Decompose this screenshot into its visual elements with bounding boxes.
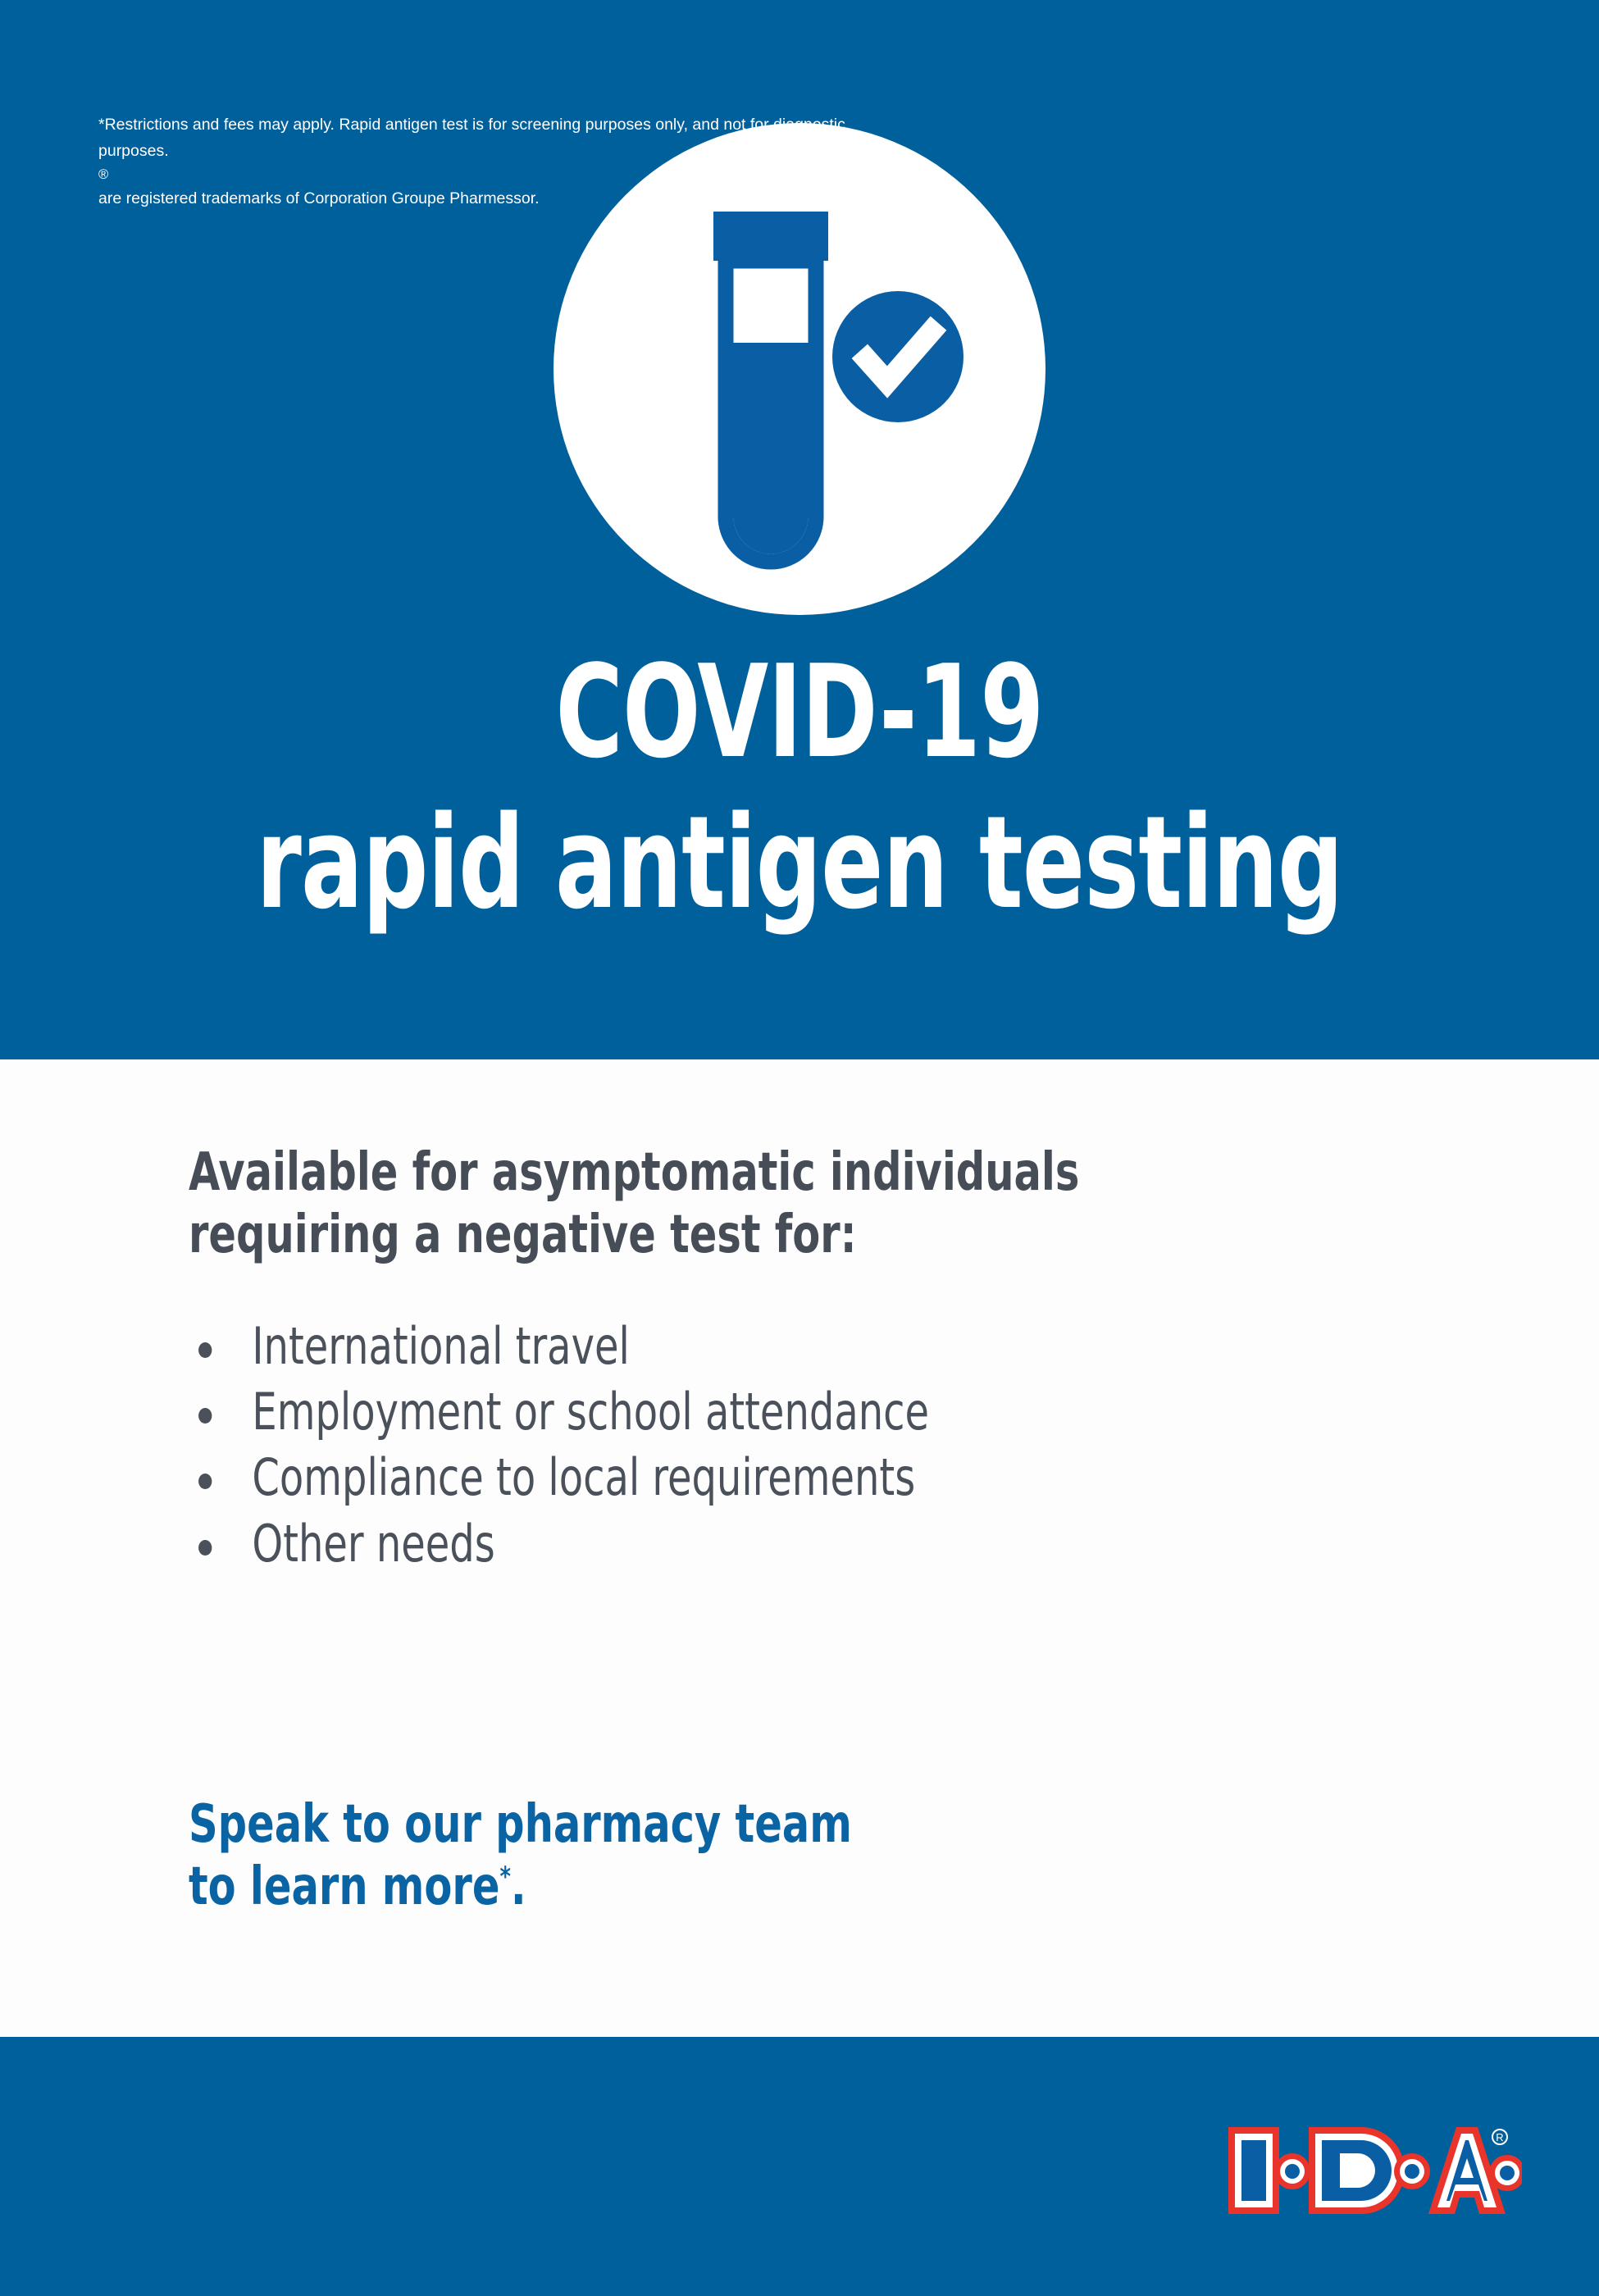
list-item: Employment or school attendance xyxy=(189,1386,1317,1437)
cta-line-1: Speak to our pharmacy team xyxy=(189,1794,1246,1856)
list-item: International travel xyxy=(189,1320,1317,1372)
disclaimer-line-2-after: are registered trademarks of Corporation… xyxy=(98,186,927,212)
bullet-dot-icon xyxy=(198,1342,212,1358)
disclaimer-line-2-before: purposes. xyxy=(98,139,927,165)
list-item-label: Employment or school attendance xyxy=(252,1382,929,1442)
poster-title: COVID-19 rapid antigen testing xyxy=(0,648,1599,927)
registered-trademark-icon: R xyxy=(1492,2130,1507,2144)
eligibility-list: International travel Employment or schoo… xyxy=(189,1320,1317,1583)
list-item: Compliance to local requirements xyxy=(189,1451,1317,1503)
cta-asterisk: * xyxy=(499,1860,510,1892)
disclaimer-line-2: purposes. ® are registered trademarks of… xyxy=(98,139,927,212)
cta-period: . xyxy=(511,1856,526,1917)
title-line-subject: rapid antigen testing xyxy=(160,799,1439,927)
cta-line-2-text: to learn more xyxy=(189,1856,499,1917)
list-item: Other needs xyxy=(189,1518,1317,1569)
disclaimer-text: *Restrictions and fees may apply. Rapid … xyxy=(98,112,927,212)
bullet-dot-icon xyxy=(198,1408,212,1424)
svg-text:R: R xyxy=(1496,2131,1503,2143)
call-to-action: Speak to our pharmacy team to learn more… xyxy=(189,1794,1246,1918)
list-item-label: International travel xyxy=(252,1316,629,1376)
list-item-label: Compliance to local requirements xyxy=(252,1447,915,1507)
body-section: Available for asymptomatic individuals r… xyxy=(0,1059,1599,2037)
disclaimer-line-1: *Restrictions and fees may apply. Rapid … xyxy=(98,112,927,139)
availability-heading-line-1: Available for asymptomatic individuals xyxy=(189,1142,1317,1205)
title-line-covid: COVID-19 xyxy=(160,648,1439,776)
availability-heading: Available for asymptomatic individuals r… xyxy=(189,1142,1317,1266)
cta-line-2: to learn more*. xyxy=(189,1856,1246,1919)
bullet-dot-icon xyxy=(198,1474,212,1489)
ida-pharmacy-logo: R xyxy=(1217,2117,1522,2224)
availability-heading-line-2: requiring a negative test for: xyxy=(189,1205,1317,1267)
list-item-label: Other needs xyxy=(252,1514,494,1574)
registered-trademark-icon: ® xyxy=(98,164,927,186)
bullet-dot-icon xyxy=(198,1540,212,1556)
poster-canvas: COVID-19 rapid antigen testing Available… xyxy=(0,0,1599,2296)
